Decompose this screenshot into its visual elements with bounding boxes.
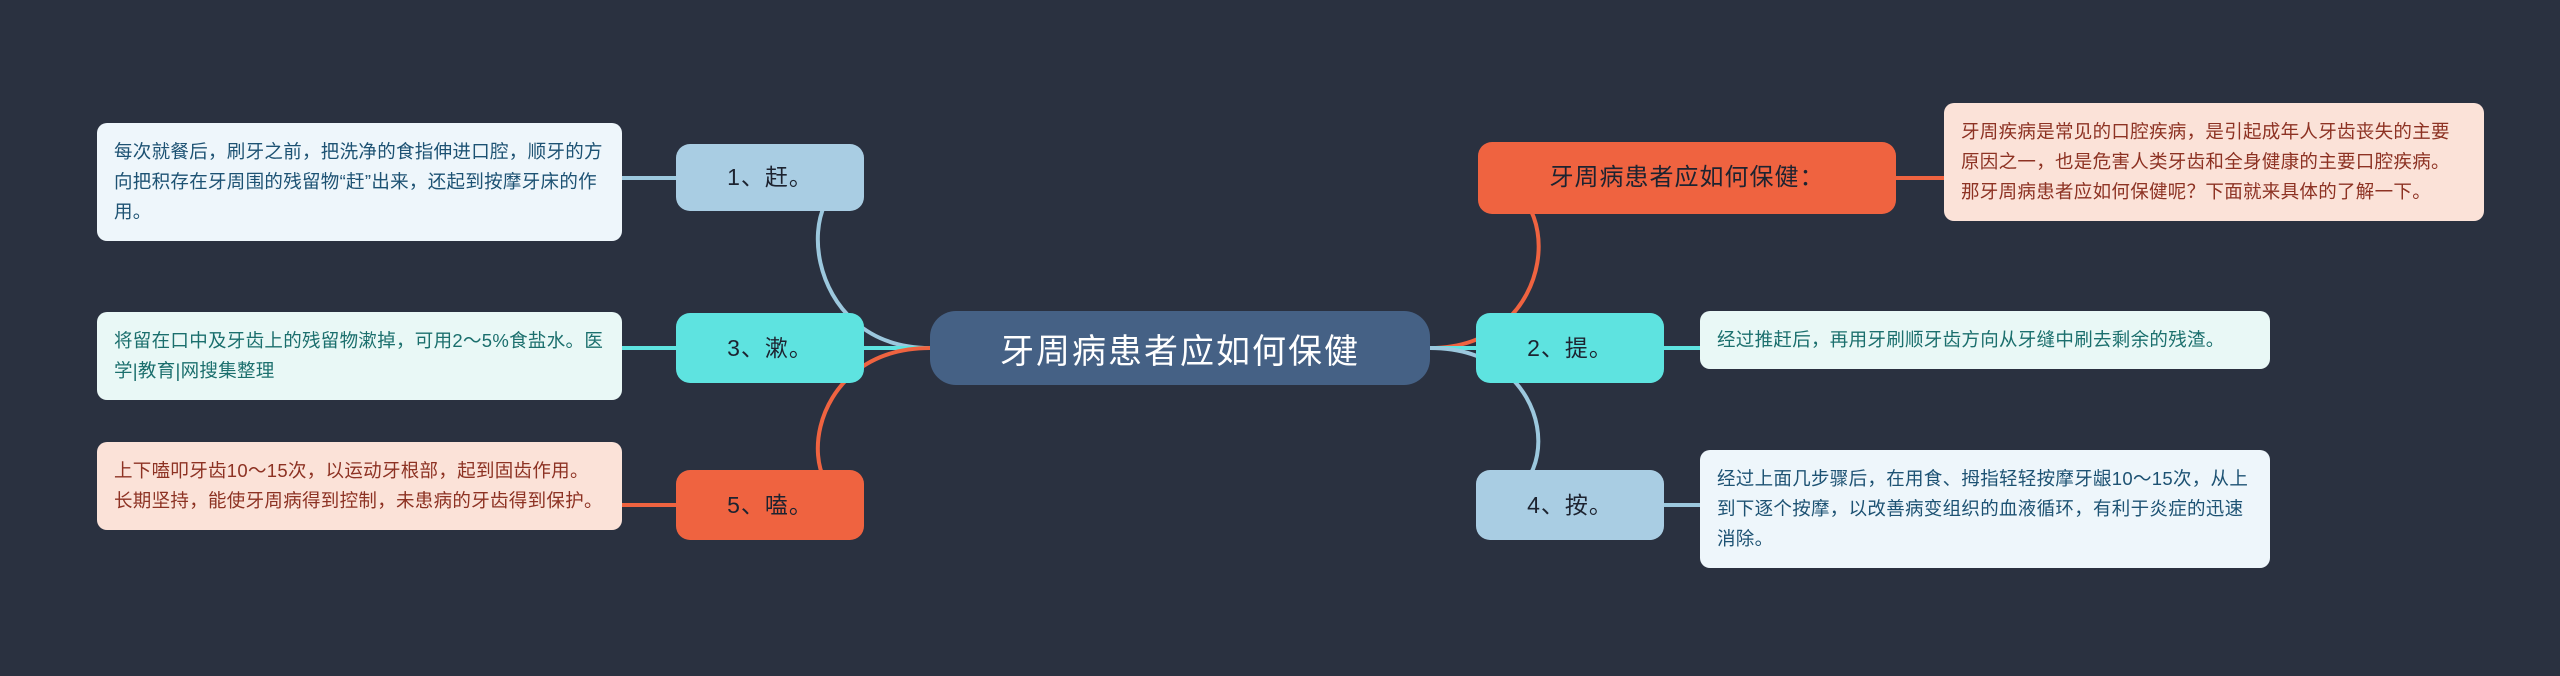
branch-node-4-an[interactable]: 4、按。 <box>1476 470 1664 540</box>
branch-node-2-ti[interactable]: 2、提。 <box>1476 313 1664 383</box>
description-card-3-shu: 将留在口中及牙齿上的残留物漱掉，可用2～5%食盐水。医学|教育|网搜集整理 <box>97 312 622 400</box>
description-card-4-an: 经过上面几步骤后，在用食、拇指轻轻按摩牙龈10～15次，从上到下逐个按摩，以改善… <box>1700 450 2270 568</box>
description-card-5-ke: 上下嗑叩牙齿10～15次，以运动牙根部，起到固齿作用。长期坚持，能使牙周病得到控… <box>97 442 622 530</box>
description-card-heading: 牙周疾病是常见的口腔疾病，是引起成年人牙齿丧失的主要原因之一，也是危害人类牙齿和… <box>1944 103 2484 221</box>
mindmap-canvas: 牙周病患者应如何保健 1、赶。 3、漱。 5、嗑。 牙周病患者应如何保健： 2、… <box>0 0 2560 676</box>
root-node[interactable]: 牙周病患者应如何保健 <box>930 311 1430 385</box>
description-card-2-ti: 经过推赶后，再用牙刷顺牙齿方向从牙缝中刷去剩余的残渣。 <box>1700 311 2270 369</box>
branch-node-heading[interactable]: 牙周病患者应如何保健： <box>1478 142 1896 214</box>
branch-node-1-gan[interactable]: 1、赶。 <box>676 144 864 211</box>
branch-node-5-ke[interactable]: 5、嗑。 <box>676 470 864 540</box>
branch-node-3-shu[interactable]: 3、漱。 <box>676 313 864 383</box>
description-card-1-gan: 每次就餐后，刷牙之前，把洗净的食指伸进口腔，顺牙的方向把积存在牙周围的残留物“赶… <box>97 123 622 241</box>
